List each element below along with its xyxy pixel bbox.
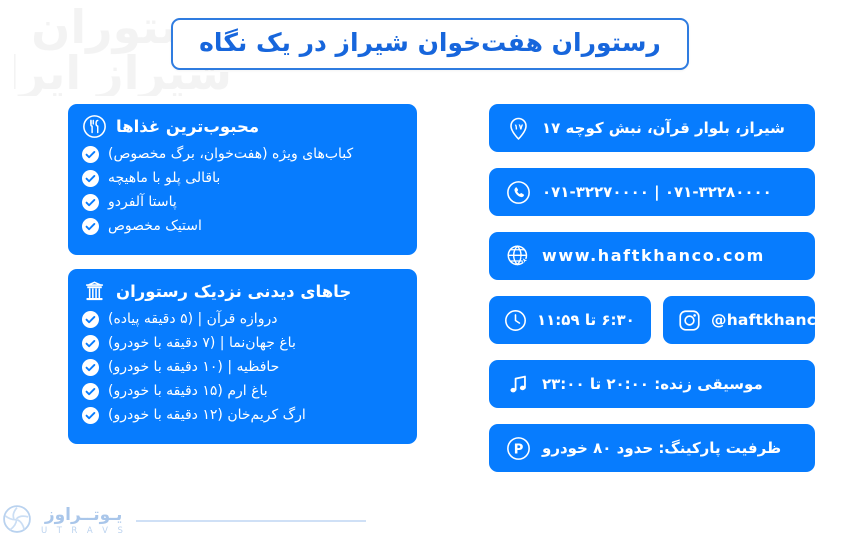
svg-text:۱۷: ۱۷ — [513, 122, 523, 131]
list-item: باقالی پلو با ماهیچه — [82, 169, 403, 188]
fork-knife-icon — [82, 114, 107, 139]
check-circle-icon — [82, 383, 99, 400]
phone-icon — [505, 179, 531, 205]
footer: یـوتــراوز U T R A V S — [0, 498, 860, 544]
check-circle-icon — [82, 146, 99, 163]
brand-wordmark: یـوتــراوز U T R A V S — [41, 507, 126, 536]
list-item-label: کباب‌های ویژه (هفت‌خوان، برگ مخصوص) — [108, 145, 353, 164]
hours-text: ۶:۳۰ تا ۱۱:۵۹ — [537, 310, 635, 330]
list-item-label: استیک مخصوص — [108, 217, 202, 236]
panel-title: محبوب‌ترین غذاها — [116, 116, 259, 138]
list-item-label: پاستا آلفردو — [108, 193, 177, 212]
check-circle-icon — [82, 311, 99, 328]
list-item-label: دروازه قرآن | (۵ دقیقه پیاده) — [108, 310, 277, 329]
list-item: باغ ارم (۱۵ دقیقه با خودرو) — [82, 382, 403, 401]
info-card-hours[interactable]: ۶:۳۰ تا ۱۱:۵۹ — [489, 296, 651, 344]
check-circle-icon — [82, 407, 99, 424]
list-item: باغ جهان‌نما | (۷ دقیقه با خودرو) — [82, 334, 403, 353]
list-item-label: حافظیه | (۱۰ دقیقه با خودرو) — [108, 358, 279, 377]
check-circle-icon — [82, 335, 99, 352]
parking-icon: P — [505, 435, 531, 461]
panel-header: جاهای دیدنی نزدیک رستوران — [82, 279, 403, 304]
panel-popular-foods: محبوب‌ترین غذاها کباب‌های ویژه (هفت‌خوان… — [68, 104, 417, 255]
address-text: شیراز، بلوار قرآن، نبش کوچه ۱۷ — [542, 118, 785, 138]
check-circle-icon — [82, 170, 99, 187]
list-item-label: باغ ارم (۱۵ دقیقه با خودرو) — [108, 382, 268, 401]
globe-cursor-icon — [505, 243, 531, 269]
check-circle-icon — [82, 359, 99, 376]
svg-text:P: P — [513, 442, 523, 457]
list-item: ارگ کریم‌خان (۱۲ دقیقه با خودرو) — [82, 406, 403, 425]
page-title: رستوران هفت‌خوان شیراز در یک نگاه — [199, 29, 661, 57]
clock-icon — [502, 307, 528, 333]
info-card-instagram[interactable]: @haftkhanco — [663, 296, 815, 344]
utravs-swirl-icon — [0, 502, 34, 540]
info-card-phone[interactable]: ۰۷۱-۳۲۲۸۰۰۰۰ | ۰۷۱-۳۲۲۷۰۰۰۰ — [489, 168, 815, 216]
page-title-container: رستوران هفت‌خوان شیراز در یک نگاه — [0, 18, 860, 70]
panels-column: محبوب‌ترین غذاها کباب‌های ویژه (هفت‌خوان… — [68, 104, 417, 458]
popular-foods-list: کباب‌های ویژه (هفت‌خوان، برگ مخصوص) باقا… — [82, 145, 403, 236]
list-item-label: باقالی پلو با ماهیچه — [108, 169, 220, 188]
phone-text: ۰۷۱-۳۲۲۸۰۰۰۰ | ۰۷۱-۳۲۲۷۰۰۰۰ — [542, 182, 772, 202]
list-item: پاستا آلفردو — [82, 193, 403, 212]
info-column: ۱۷ شیراز، بلوار قرآن، نبش کوچه ۱۷ ۰۷۱-۳۲… — [489, 104, 815, 488]
live-music-text: موسیقی زنده: ۲۰:۰۰ تا ۲۳:۰۰ — [542, 374, 763, 394]
location-pin-icon: ۱۷ — [505, 115, 531, 141]
check-circle-icon — [82, 194, 99, 211]
list-item: دروازه قرآن | (۵ دقیقه پیاده) — [82, 310, 403, 329]
footer-divider — [136, 520, 366, 522]
info-card-address[interactable]: ۱۷ شیراز، بلوار قرآن، نبش کوچه ۱۷ — [489, 104, 815, 152]
brand-name-en: U T R A V S — [41, 527, 126, 536]
info-card-parking[interactable]: P ظرفیت پارکینگ: حدود ۸۰ خودرو — [489, 424, 815, 472]
list-item-label: باغ جهان‌نما | (۷ دقیقه با خودرو) — [108, 334, 296, 353]
instagram-handle: @haftkhanco — [711, 310, 827, 330]
panel-title: جاهای دیدنی نزدیک رستوران — [116, 281, 351, 303]
hours-social-row: ۶:۳۰ تا ۱۱:۵۹ @haftkhanco — [489, 296, 815, 344]
column-monument-icon — [82, 279, 107, 304]
page-title-box: رستوران هفت‌خوان شیراز در یک نگاه — [171, 18, 689, 70]
nearby-attractions-list: دروازه قرآن | (۵ دقیقه پیاده) باغ جهان‌ن… — [82, 310, 403, 425]
info-card-live-music[interactable]: موسیقی زنده: ۲۰:۰۰ تا ۲۳:۰۰ — [489, 360, 815, 408]
list-item: کباب‌های ویژه (هفت‌خوان، برگ مخصوص) — [82, 145, 403, 164]
list-item: حافظیه | (۱۰ دقیقه با خودرو) — [82, 358, 403, 377]
check-circle-icon — [82, 218, 99, 235]
music-note-icon — [505, 371, 531, 397]
info-card-website[interactable]: www.haftkhanco.com — [489, 232, 815, 280]
list-item-label: ارگ کریم‌خان (۱۲ دقیقه با خودرو) — [108, 406, 306, 425]
instagram-icon — [676, 307, 702, 333]
list-item: استیک مخصوص — [82, 217, 403, 236]
panel-header: محبوب‌ترین غذاها — [82, 114, 403, 139]
parking-text: ظرفیت پارکینگ: حدود ۸۰ خودرو — [542, 438, 781, 458]
website-url: www.haftkhanco.com — [542, 246, 765, 266]
panel-nearby-attractions: جاهای دیدنی نزدیک رستوران دروازه قرآن | … — [68, 269, 417, 444]
brand-logo: یـوتــراوز U T R A V S — [0, 502, 126, 540]
brand-name-fa: یـوتــراوز — [45, 507, 123, 524]
